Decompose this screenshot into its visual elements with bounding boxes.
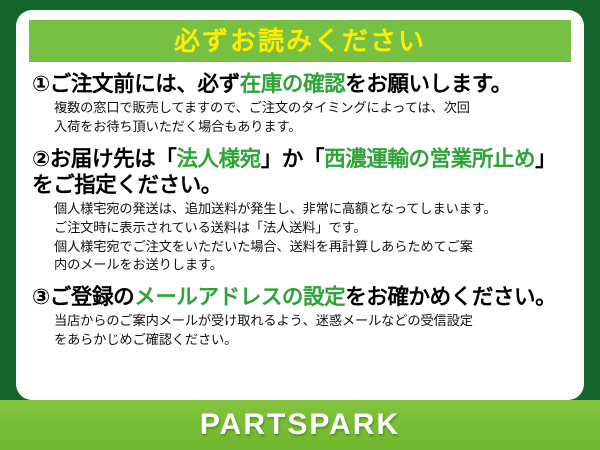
- notice-card: 必ずお読みください ①ご注文前には、必ず在庫の確認をお願いします。 複数の窓口で…: [0, 0, 600, 450]
- notice-item-3-subtext: 当店からのご案内メールが受け取れるよう、迷惑メールなどの受信設定 をあらかじめご…: [32, 312, 568, 349]
- brand-logo-text: PARTSPARK: [200, 410, 400, 440]
- plain-text: ②お届け先は「: [32, 147, 176, 171]
- notice-title: 必ずお読みください: [174, 28, 426, 54]
- notice-item-2-subtext: 個人様宅宛の発送は、追加送料が発生し、非常に高額となってしまいます。 ご注文時に…: [32, 200, 568, 275]
- plain-text: ③ご登録の: [32, 285, 134, 309]
- emphasis-text: 法人様宛: [176, 147, 260, 171]
- brand-footer: PARTSPARK: [0, 400, 600, 450]
- notice-item-2-headline: ②お届け先は「法人様宛」か「西濃運輸の営業所止め」 をご指定ください。: [32, 146, 568, 198]
- notice-item-1: ①ご注文前には、必ず在庫の確認をお願いします。 複数の窓口で販売してますので、ご…: [32, 71, 568, 137]
- notice-item-2: ②お届け先は「法人様宛」か「西濃運輸の営業所止め」 をご指定ください。 個人様宅…: [32, 146, 568, 275]
- notice-panel: 必ずお読みください ①ご注文前には、必ず在庫の確認をお願いします。 複数の窓口で…: [16, 10, 584, 400]
- plain-text: ①ご注文前には、必ず: [32, 72, 240, 96]
- notice-item-3-headline: ③ご登録のメールアドレスの設定をお確かめください。: [32, 284, 568, 310]
- plain-text: をお願いします。: [345, 72, 512, 96]
- plain-text: をお確かめください。: [345, 285, 556, 309]
- emphasis-text: 西濃運輸の営業所止め: [324, 147, 535, 171]
- plain-text: 」か「: [261, 147, 324, 171]
- notice-item-1-headline: ①ご注文前には、必ず在庫の確認をお願いします。: [32, 71, 568, 97]
- notice-item-3: ③ご登録のメールアドレスの設定をお確かめください。 当店からのご案内メールが受け…: [32, 284, 568, 350]
- notice-item-1-subtext: 複数の窓口で販売してますので、ご注文のタイミングによっては、次回 入荷をお待ち頂…: [32, 99, 568, 136]
- notice-item-list: ①ご注文前には、必ず在庫の確認をお願いします。 複数の窓口で販売してますので、ご…: [28, 71, 572, 350]
- emphasis-text: メールアドレスの設定: [134, 285, 345, 309]
- emphasis-text: 在庫の確認: [240, 72, 346, 96]
- notice-title-banner: 必ずお読みください: [29, 20, 571, 62]
